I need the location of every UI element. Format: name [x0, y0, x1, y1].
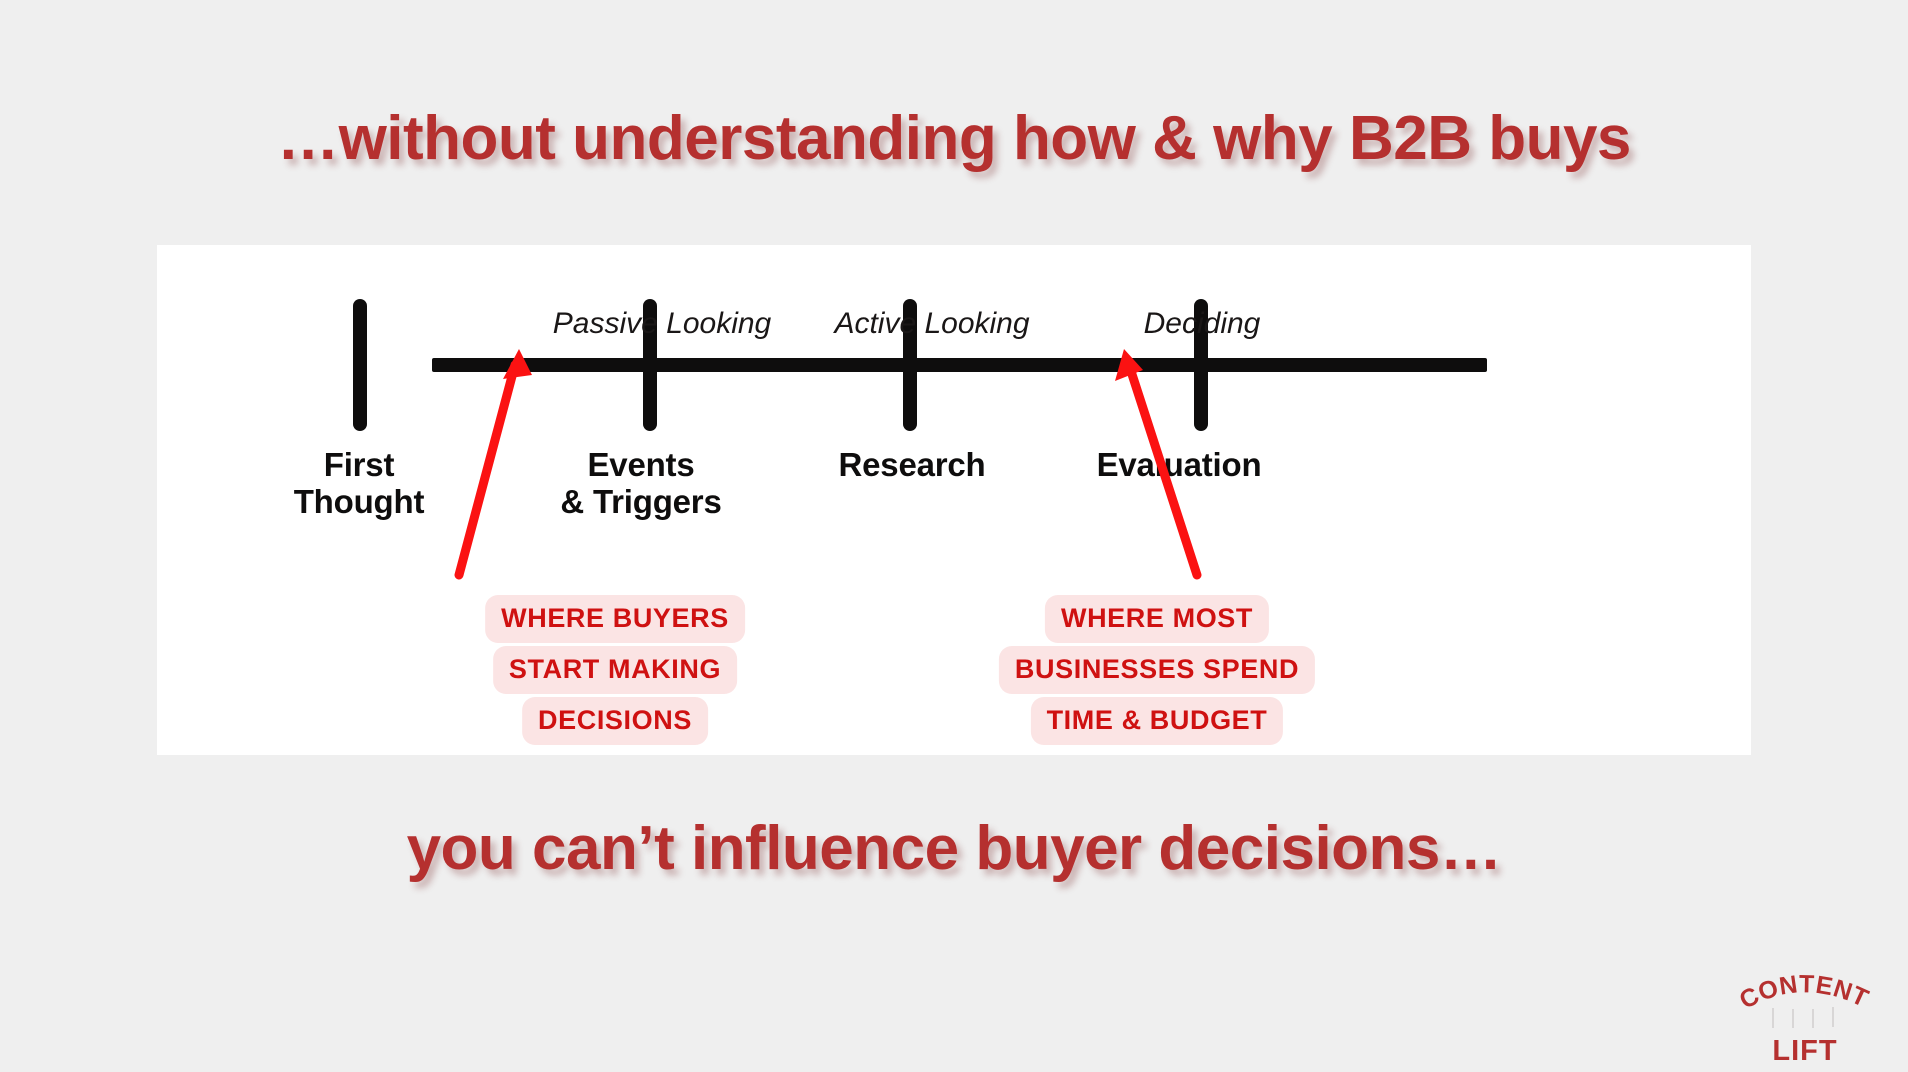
callout-right: WHERE MOST BUSINESSES SPEND TIME & BUDGE… — [999, 595, 1315, 748]
stage-label-deciding: Deciding — [1144, 307, 1261, 341]
node-label-evaluation: Evaluation — [1097, 447, 1262, 484]
timeline-axis — [432, 358, 1487, 372]
timeline-tick-1 — [353, 299, 367, 431]
logo-text-content: CONTENT — [1735, 975, 1873, 1015]
buyer-journey-timeline: Passive Looking Active Looking Deciding … — [157, 245, 1751, 755]
page-title-bottom: you can’t influence buyer decisions… — [0, 818, 1908, 880]
callout-left-line-3: DECISIONS — [522, 697, 708, 745]
content-lift-logo: CONTENT LIFT — [1723, 975, 1883, 1065]
diagram-panel: Passive Looking Active Looking Deciding … — [157, 245, 1751, 755]
node-label-events-triggers: Events & Triggers — [560, 447, 721, 521]
page-title-top: …without understanding how & why B2B buy… — [0, 108, 1908, 170]
callout-right-line-1: WHERE MOST — [1045, 595, 1269, 643]
callout-left: WHERE BUYERS START MAKING DECISIONS — [485, 595, 745, 748]
callout-left-line-2: START MAKING — [493, 646, 737, 694]
node-label-first-thought: First Thought — [294, 447, 425, 521]
callout-right-line-3: TIME & BUDGET — [1031, 697, 1284, 745]
callout-left-line-1: WHERE BUYERS — [485, 595, 745, 643]
slide-root: …without understanding how & why B2B buy… — [0, 0, 1908, 1072]
callout-right-line-2: BUSINESSES SPEND — [999, 646, 1315, 694]
node-label-research: Research — [839, 447, 986, 484]
logo-text-lift: LIFT — [1772, 1035, 1837, 1065]
stage-label-active-looking: Active Looking — [834, 307, 1029, 341]
stage-label-passive-looking: Passive Looking — [553, 307, 771, 341]
